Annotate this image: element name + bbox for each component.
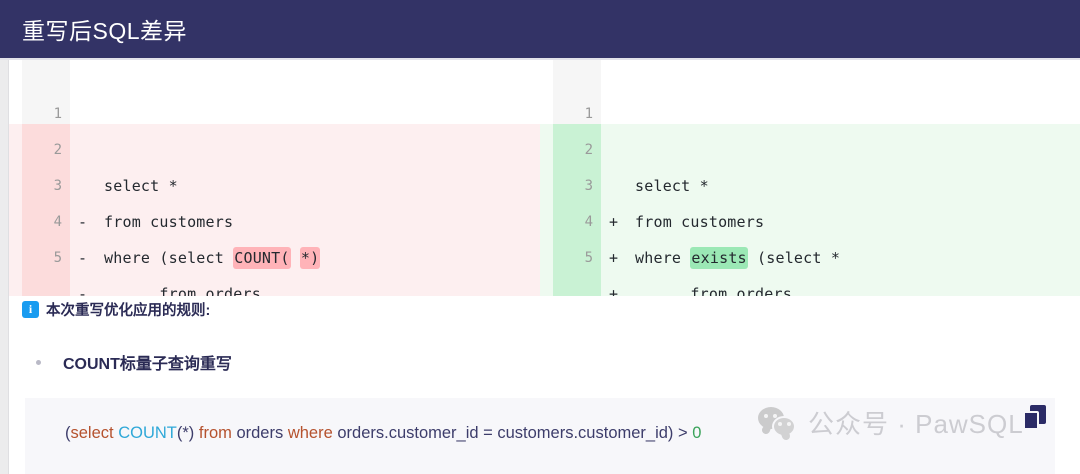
diff-row: 2 from customers xyxy=(553,96,1071,132)
sql-token-select: select xyxy=(71,424,119,442)
diff-row: 1 select * xyxy=(553,60,1071,96)
diff-row-wrapped: > 0 xyxy=(22,276,540,296)
sql-token-star: (*) xyxy=(177,424,199,442)
diff-row: 1 select * xyxy=(22,60,540,96)
diff-row: 4 + from orders xyxy=(553,168,1071,204)
rule-list-item[interactable]: COUNT标量子查询重写 xyxy=(22,350,1022,374)
diff-viewer[interactable]: 1 select * 2 from customers 3 - where (s… xyxy=(9,60,1080,296)
diff-pane-original: 1 select * 2 from customers 3 - where (s… xyxy=(9,60,540,296)
diff-row: 4 - from orders xyxy=(22,168,540,204)
diff-lines-left: 1 select * 2 from customers 3 - where (s… xyxy=(22,60,540,296)
sql-rewrite-diff-page: 重写后SQL差异 1 select * 2 fro xyxy=(0,0,1080,474)
diff-row: 5 - where orders.customer_id = custome xyxy=(22,204,540,240)
copy-icon[interactable] xyxy=(1023,405,1047,431)
rule-label: COUNT标量子查询重写 xyxy=(63,350,232,374)
diff-row: 2 from customers xyxy=(22,96,540,132)
sql-token-count: COUNT xyxy=(118,424,177,442)
sql-snippet-text: (select COUNT(*) from orders where order… xyxy=(65,424,701,443)
sql-token-predicate: orders.customer_id = customers.customer_… xyxy=(337,424,692,442)
diff-row: 3 - where (select COUNT( *) xyxy=(22,132,540,168)
applied-rules-heading-text: 本次重写优化应用的规则: xyxy=(46,299,210,320)
applied-rules-section: i 本次重写优化应用的规则: COUNT标量子查询重写 xyxy=(22,298,1022,374)
sql-token-zero: 0 xyxy=(692,424,701,442)
sql-token-from: from xyxy=(199,424,237,442)
sql-token-orders: orders xyxy=(236,424,287,442)
diff-row: 3 + where exists (select * xyxy=(553,132,1071,168)
diff-pane-rewritten: 1 select * 2 from customers 3 + where ex… xyxy=(540,60,1080,296)
diff-row-wrapped: rs.customer_id) xyxy=(22,240,540,276)
page-header: 重写后SQL差异 xyxy=(0,0,1080,58)
info-icon: i xyxy=(22,301,39,318)
page-title: 重写后SQL差异 xyxy=(0,12,187,46)
diff-row-wrapped: rs.customer_id) xyxy=(553,240,1071,276)
applied-rules-heading: i 本次重写优化应用的规则: xyxy=(22,298,1022,320)
sql-snippet-block[interactable]: (select COUNT(*) from orders where order… xyxy=(25,398,1055,474)
bullet-icon xyxy=(36,360,41,365)
diff-lines-right: 1 select * 2 from customers 3 + where ex… xyxy=(553,60,1071,296)
code-text: from orders xyxy=(635,276,792,296)
sql-token-where: where xyxy=(288,424,338,442)
diff-row: 5 + where orders.customer_id = custome xyxy=(553,204,1071,240)
